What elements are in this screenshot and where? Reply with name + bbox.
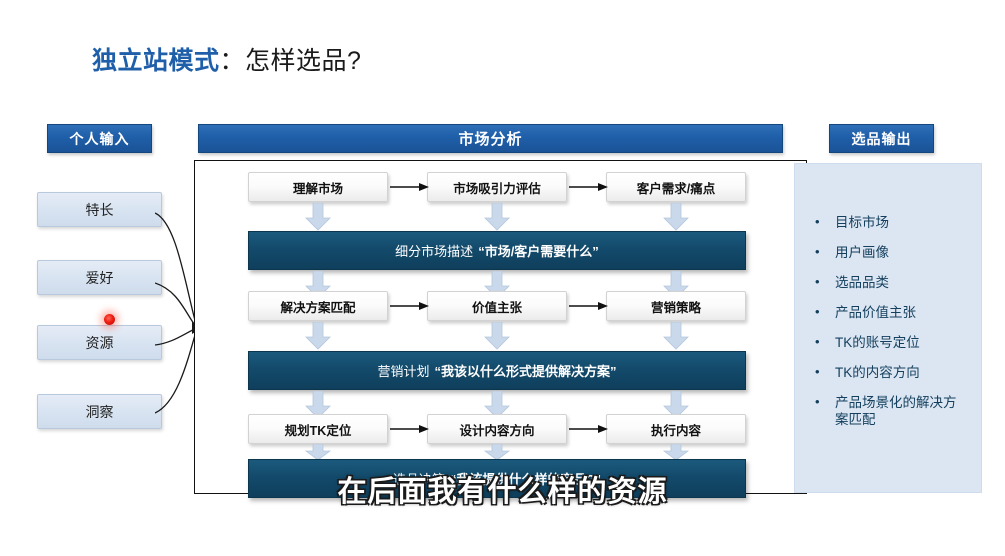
input-box-hobby[interactable]: 爱好	[37, 260, 162, 295]
step-box-execute-content-label: 执行内容	[651, 420, 701, 439]
band-marketing-plan: 营销计划 “我该以什么形式提供解决方案”	[248, 351, 746, 390]
arrow-right-row2-b	[569, 301, 609, 311]
band-selection-decision: 选品决策 “我该提供什么样的商品?”	[248, 459, 746, 498]
down-arrow-r1-col-c	[663, 203, 689, 231]
step-box-solution-match[interactable]: 解决方案匹配	[248, 291, 388, 321]
band-selection-decision-lead: 选品决策	[393, 469, 445, 488]
down-arrow-r2-col-b	[484, 322, 510, 350]
list-item: 目标市场	[813, 214, 967, 231]
page-title: 独立站模式：怎样选品?	[92, 41, 361, 77]
band-segment-description-quote: “市场/客户需要什么”	[478, 241, 599, 260]
list-item: 产品价值主张	[813, 304, 967, 321]
step-box-marketing-strategy[interactable]: 营销策略	[606, 291, 746, 321]
selection-output-header-label: 选品输出	[852, 129, 912, 149]
personal-input-header-label: 个人输入	[70, 129, 130, 149]
input-box-hobby-label: 爱好	[86, 268, 114, 288]
step-box-design-content-direction[interactable]: 设计内容方向	[427, 414, 567, 444]
step-box-market-attractiveness-label: 市场吸引力评估	[453, 178, 541, 197]
list-item: 选品品类	[813, 274, 967, 291]
list-item: TK的内容方向	[813, 364, 967, 381]
step-box-understand-market-label: 理解市场	[293, 178, 343, 197]
arrow-right-row3-a	[390, 424, 430, 434]
down-arrow-r1-col-b	[484, 203, 510, 231]
band-selection-decision-quote: “我该提供什么样的商品?”	[450, 469, 601, 488]
page-title-highlight: 独立站模式	[92, 47, 220, 75]
selection-output-header: 选品输出	[829, 124, 934, 153]
input-box-strength-label: 特长	[86, 200, 114, 220]
arrow-right-row3-b	[569, 424, 609, 434]
personal-input-header: 个人输入	[47, 124, 152, 153]
step-box-plan-tk-position-label: 规划TK定位	[285, 420, 352, 439]
input-box-resource[interactable]: 资源	[37, 325, 162, 360]
arrow-right-row1-b	[569, 182, 609, 192]
down-arrow-r2-col-c	[663, 322, 689, 350]
selection-output-list: 目标市场 用户画像 选品品类 产品价值主张 TK的账号定位 TK的内容方向 产品…	[795, 214, 981, 428]
page-title-rest: ：怎样选品?	[220, 47, 362, 75]
cursor-pointer-dot	[104, 314, 115, 325]
band-segment-description: 细分市场描述 “市场/客户需要什么”	[248, 231, 746, 270]
input-box-insight[interactable]: 洞察	[37, 394, 162, 429]
input-box-insight-label: 洞察	[86, 402, 114, 422]
step-box-plan-tk-position[interactable]: 规划TK定位	[248, 414, 388, 444]
step-box-value-proposition-label: 价值主张	[472, 297, 522, 316]
list-item: 产品场景化的解决方案匹配	[813, 394, 967, 428]
market-analysis-header: 市场分析	[198, 124, 783, 153]
market-analysis-header-label: 市场分析	[458, 128, 522, 149]
step-box-understand-market[interactable]: 理解市场	[248, 172, 388, 202]
arrow-right-row1-a	[390, 182, 430, 192]
step-box-customer-needs[interactable]: 客户需求/痛点	[606, 172, 746, 202]
step-box-customer-needs-label: 客户需求/痛点	[637, 178, 715, 197]
step-box-market-attractiveness[interactable]: 市场吸引力评估	[427, 172, 567, 202]
list-item: TK的账号定位	[813, 334, 967, 351]
step-box-marketing-strategy-label: 营销策略	[651, 297, 701, 316]
input-box-resource-label: 资源	[86, 333, 114, 353]
band-marketing-plan-lead: 营销计划	[377, 361, 429, 380]
band-segment-description-lead: 细分市场描述	[395, 241, 473, 260]
selection-output-panel: 目标市场 用户画像 选品品类 产品价值主张 TK的账号定位 TK的内容方向 产品…	[794, 163, 982, 493]
step-box-execute-content[interactable]: 执行内容	[606, 414, 746, 444]
input-box-strength[interactable]: 特长	[37, 192, 162, 227]
step-box-solution-match-label: 解决方案匹配	[280, 297, 355, 316]
down-arrow-r2-col-a	[305, 322, 331, 350]
step-box-design-content-direction-label: 设计内容方向	[459, 420, 534, 439]
down-arrow-r1-col-a	[305, 203, 331, 231]
band-marketing-plan-quote: “我该以什么形式提供解决方案”	[435, 361, 617, 380]
list-item: 用户画像	[813, 244, 967, 261]
step-box-value-proposition[interactable]: 价值主张	[427, 291, 567, 321]
arrow-right-row2-a	[390, 301, 430, 311]
